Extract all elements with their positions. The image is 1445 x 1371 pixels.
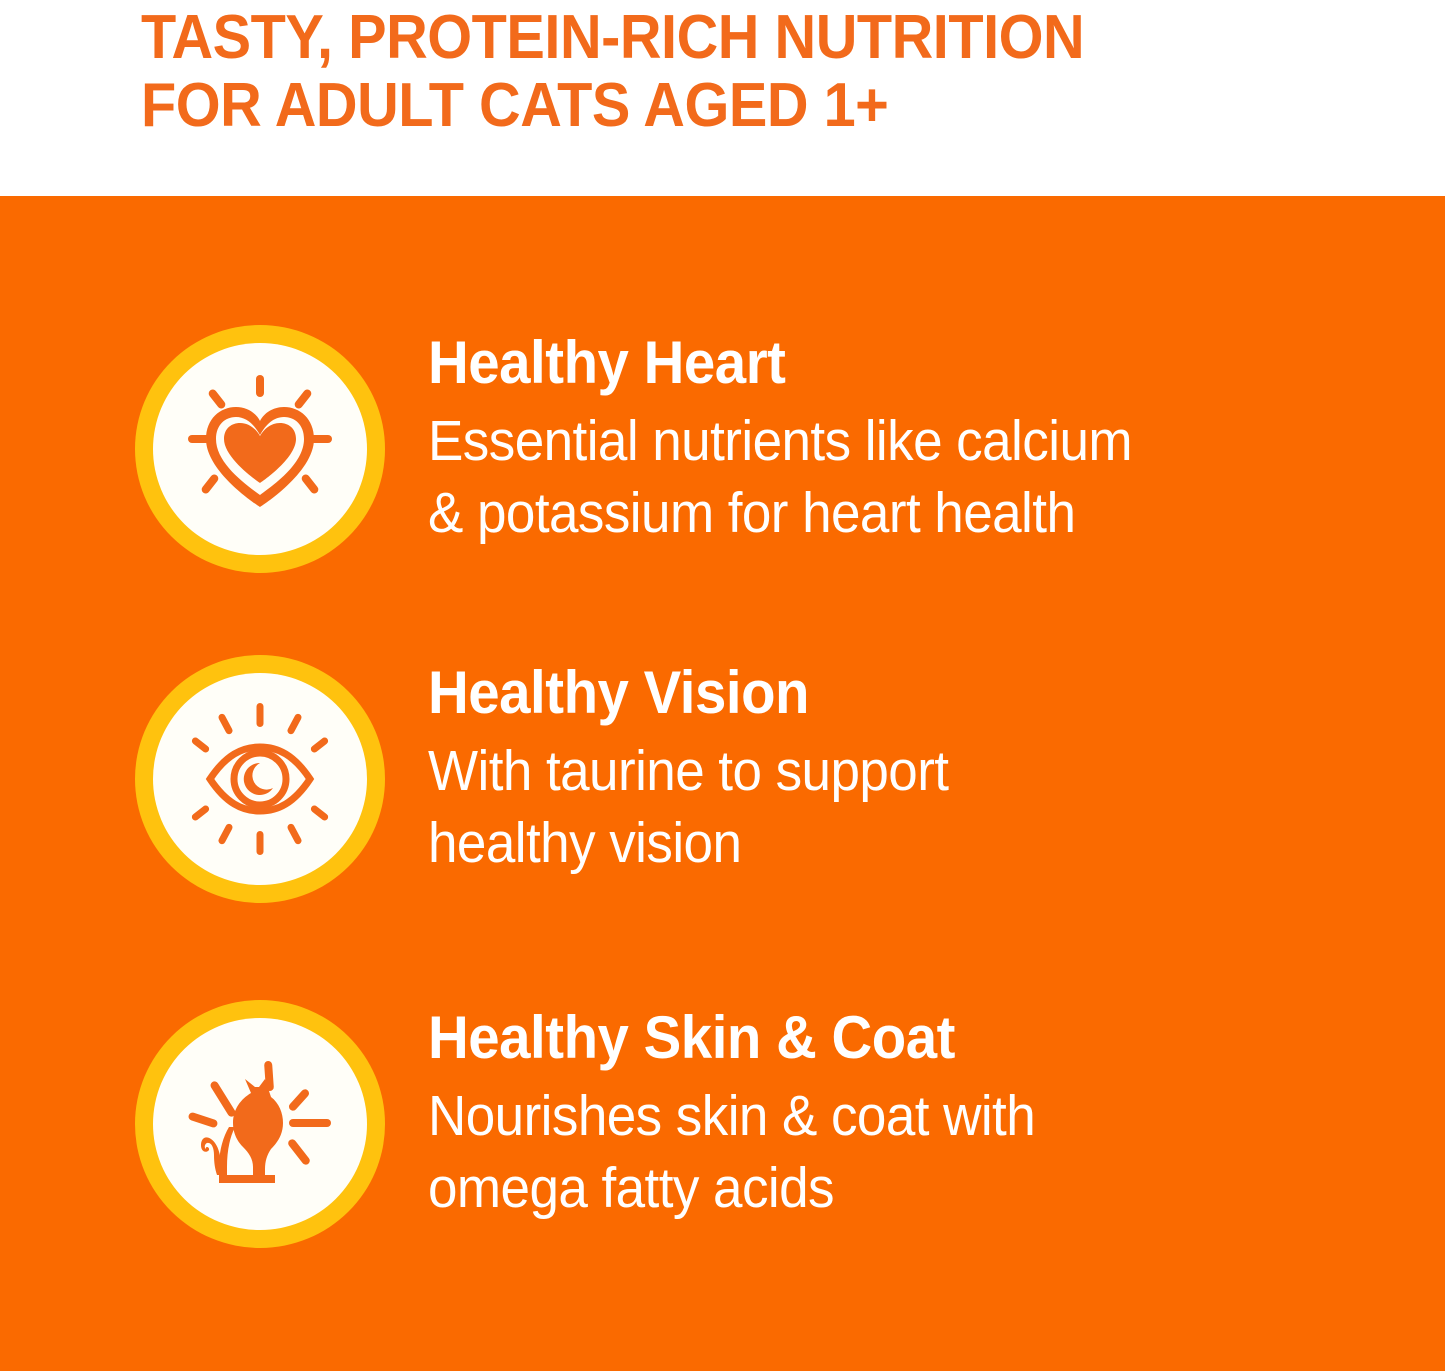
- radiant-eye-icon: [178, 697, 342, 861]
- benefit-description: With taurine to support healthy vision: [428, 735, 1265, 879]
- benefit-desc-line-2: & potassium for heart health: [428, 477, 1265, 549]
- headline-line-1: TASTY, PROTEIN-RICH NUTRITION: [141, 4, 1285, 72]
- benefit-title: Healthy Heart: [428, 331, 1274, 395]
- page-headline: TASTY, PROTEIN-RICH NUTRITION FOR ADULT …: [141, 4, 1285, 140]
- radiant-heart-icon: [180, 369, 340, 529]
- benefit-text-block: Healthy Skin & Coat Nourishes skin & coa…: [428, 1000, 1328, 1224]
- benefit-desc-line-1: Essential nutrients like calcium: [428, 405, 1265, 477]
- benefit-text-block: Healthy Heart Essential nutrients like c…: [428, 325, 1328, 549]
- benefit-icon-badge: [135, 1000, 385, 1248]
- headline-band: TASTY, PROTEIN-RICH NUTRITION FOR ADULT …: [0, 0, 1445, 196]
- benefit-description: Essential nutrients like calcium & potas…: [428, 405, 1265, 549]
- benefit-text-block: Healthy Vision With taurine to support h…: [428, 655, 1328, 879]
- benefit-desc-line-2: omega fatty acids: [428, 1152, 1265, 1224]
- benefit-desc-line-1: Nourishes skin & coat with: [428, 1080, 1265, 1152]
- benefit-icon-badge: [135, 325, 385, 573]
- benefit-icon-badge: [135, 655, 385, 903]
- headline-line-2: FOR ADULT CATS AGED 1+: [141, 72, 1285, 140]
- benefit-description: Nourishes skin & coat with omega fatty a…: [428, 1080, 1265, 1224]
- badge-inner-disc: [153, 1018, 367, 1230]
- benefit-desc-line-2: healthy vision: [428, 807, 1265, 879]
- benefit-title: Healthy Skin & Coat: [428, 1006, 1274, 1070]
- badge-inner-disc: [153, 343, 367, 555]
- benefit-desc-line-1: With taurine to support: [428, 735, 1265, 807]
- benefit-title: Healthy Vision: [428, 661, 1274, 725]
- radiant-cat-icon: [179, 1043, 341, 1205]
- badge-inner-disc: [153, 673, 367, 885]
- benefits-panel: TASTY, PROTEIN-RICH NUTRITION FOR ADULT …: [0, 0, 1445, 1371]
